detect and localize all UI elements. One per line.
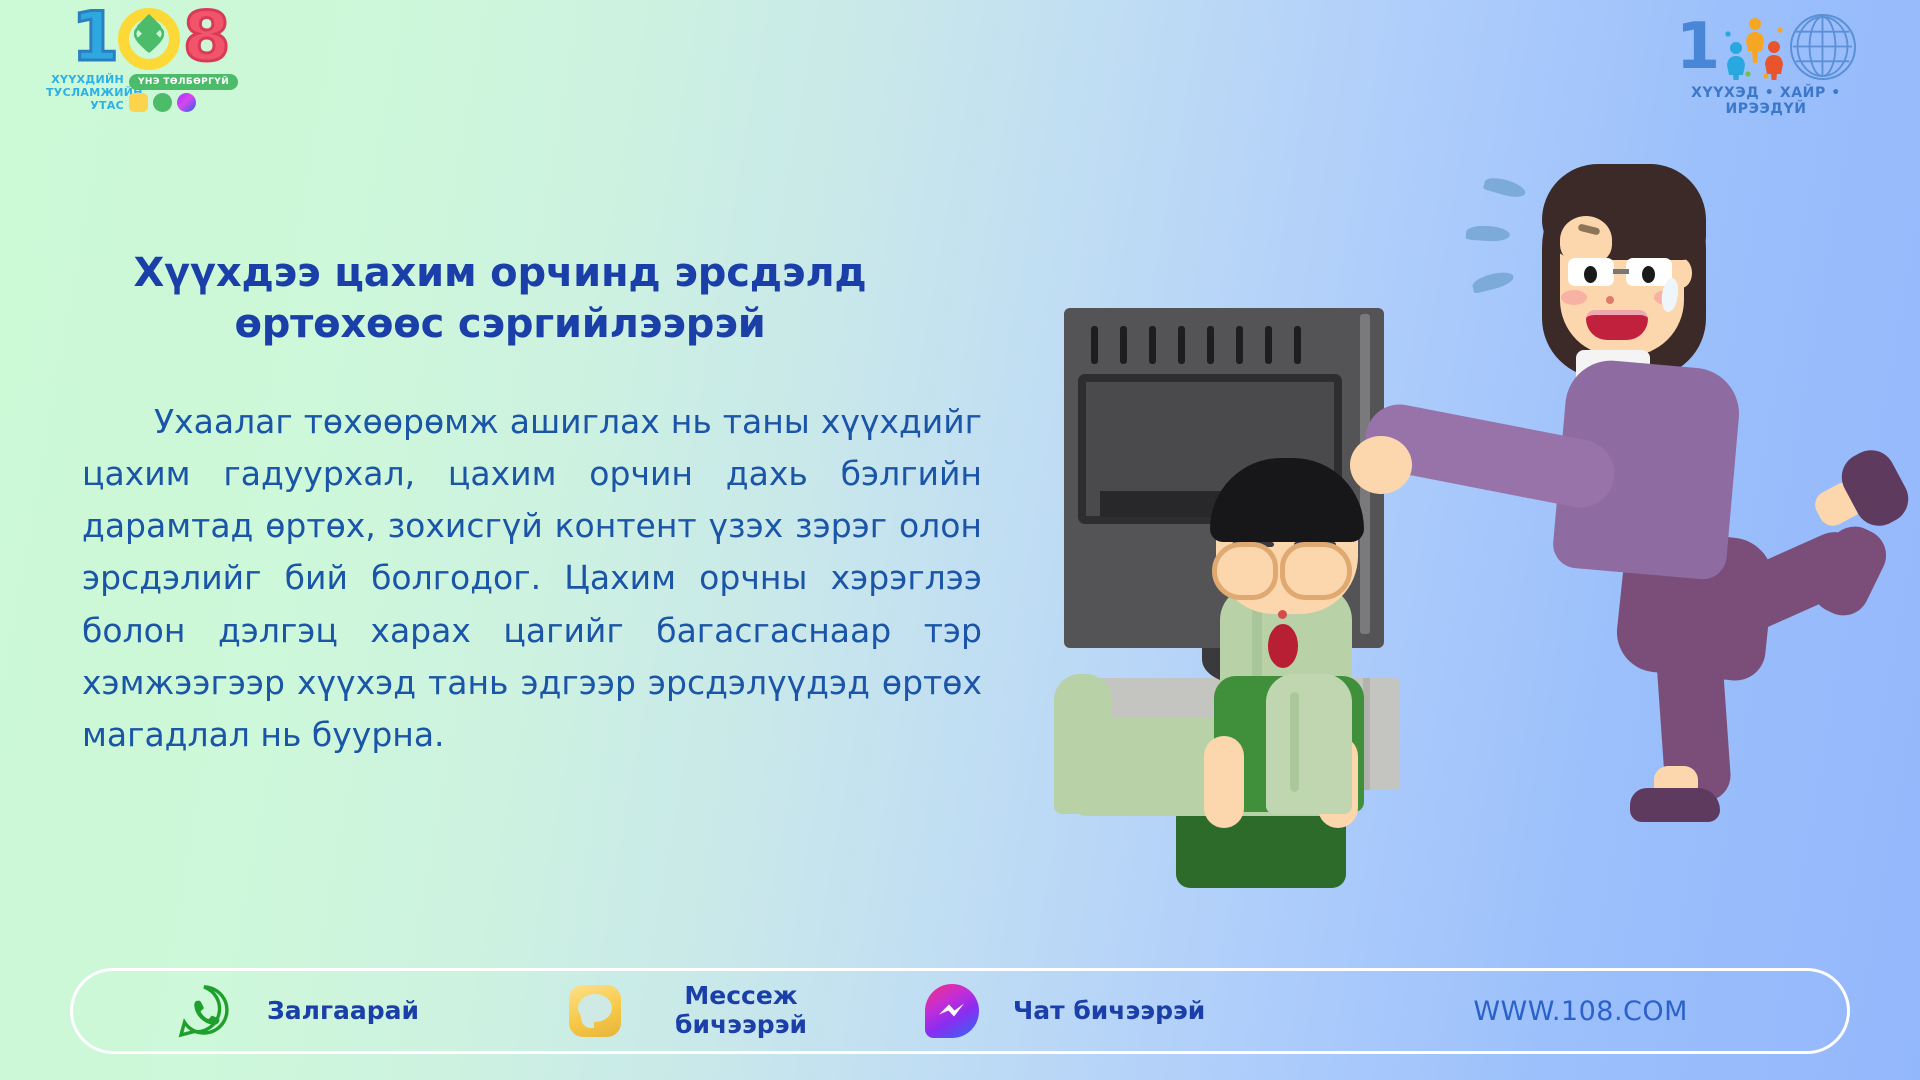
whatsapp-icon (153, 93, 172, 112)
armchair-arm-right (1266, 674, 1352, 814)
footer-item-chat[interactable]: Чат бичээрэй (925, 984, 1205, 1038)
footer-label-chat: Чат бичээрэй (1013, 997, 1205, 1026)
logo-digit-0 (118, 8, 180, 70)
mother-eye-right (1642, 266, 1655, 283)
100-anniversary-logo: 1 (1660, 10, 1872, 110)
footer-label-message: Мессеж бичээрэй (675, 982, 807, 1040)
messenger-bolt-icon (937, 1000, 967, 1022)
whatsapp-icon[interactable] (177, 984, 231, 1038)
logo-numeral-1: 1 (1676, 15, 1721, 79)
heart-phone-icon (134, 25, 164, 53)
logo-digit-8: 8 (183, 6, 230, 71)
logo-digit-1: 1 (72, 6, 117, 71)
footer-label-call: Залгаарай (267, 997, 419, 1026)
mother-eye-left (1584, 266, 1597, 283)
mother-hand-covering-right-eye (1280, 542, 1352, 600)
108-digits: 1 8 (46, 6, 256, 78)
child-mouth (1268, 624, 1298, 668)
messenger-icon (177, 93, 196, 112)
mother-nose (1606, 296, 1614, 304)
108-logo-subtitle: ХҮҮХДИЙН ТУСЛАМЖИЙН УТАС ҮНЭ ТӨЛБӨРГҮЙ (46, 74, 256, 113)
footer-item-message[interactable]: Мессеж бичээрэй (569, 982, 807, 1040)
108-helpline-logo: 1 8 ХҮҮХДИЙН ТУСЛАМЖИЙН УТАС ҮНЭ ТӨЛБӨРГ… (46, 6, 256, 124)
child-arm-left (1204, 736, 1244, 828)
message-icon (129, 93, 148, 112)
messenger-icon[interactable] (925, 984, 979, 1038)
mother-slipper-front (1630, 788, 1720, 822)
mother-shin-back (1803, 518, 1895, 624)
108-org-lines: ХҮҮХДИЙН ТУСЛАМЖИЙН УТАС (46, 74, 124, 113)
org-line-3: УТАС (46, 100, 124, 113)
100-logo-graphic: 1 (1660, 10, 1872, 84)
mother-mouth (1586, 310, 1648, 340)
footer-item-call[interactable]: Залгаарай (177, 984, 419, 1038)
page-title: Хүүхдээ цахим орчинд эрсдэлд өртөхөөс сэ… (80, 248, 920, 350)
mother-hair-front (1542, 164, 1706, 260)
mother-hand (1350, 436, 1412, 494)
website-url[interactable]: WWW.108.COM (1473, 996, 1688, 1027)
body-paragraph: Ухаалаг төхөөрөмж ашиглах нь таны хүүхди… (82, 396, 982, 761)
mother-hand-covering-left-eye (1212, 542, 1278, 600)
sweat-marks (1452, 178, 1542, 298)
org-line-2: ТУСЛАМЖИЙН (46, 87, 124, 100)
footer-label-message-line2: бичээрэй (675, 1010, 807, 1039)
108-logo-badges: ҮНЭ ТӨЛБӨРГҮЙ (129, 74, 238, 112)
three-people-icon (1722, 14, 1788, 80)
tv-vents (1091, 326, 1301, 364)
contact-footer-bar: Залгаарай Мессеж бичээрэй Чат бичээрэй W… (70, 968, 1850, 1054)
free-of-charge-badge: ҮНЭ ТӨЛБӨРГҮЙ (129, 74, 238, 90)
globe-icon (1790, 14, 1856, 80)
mother-blush-left (1561, 290, 1587, 305)
logo-mini-icon-row (129, 93, 196, 112)
illustration (1030, 150, 1910, 850)
footer-label-message-line1: Мессеж (684, 981, 797, 1010)
message-icon[interactable] (569, 985, 621, 1037)
child-nose (1278, 610, 1287, 619)
100-logo-caption: ХҮҮХЭД • ХАЙР • ИРЭЭДҮЙ (1660, 85, 1872, 117)
